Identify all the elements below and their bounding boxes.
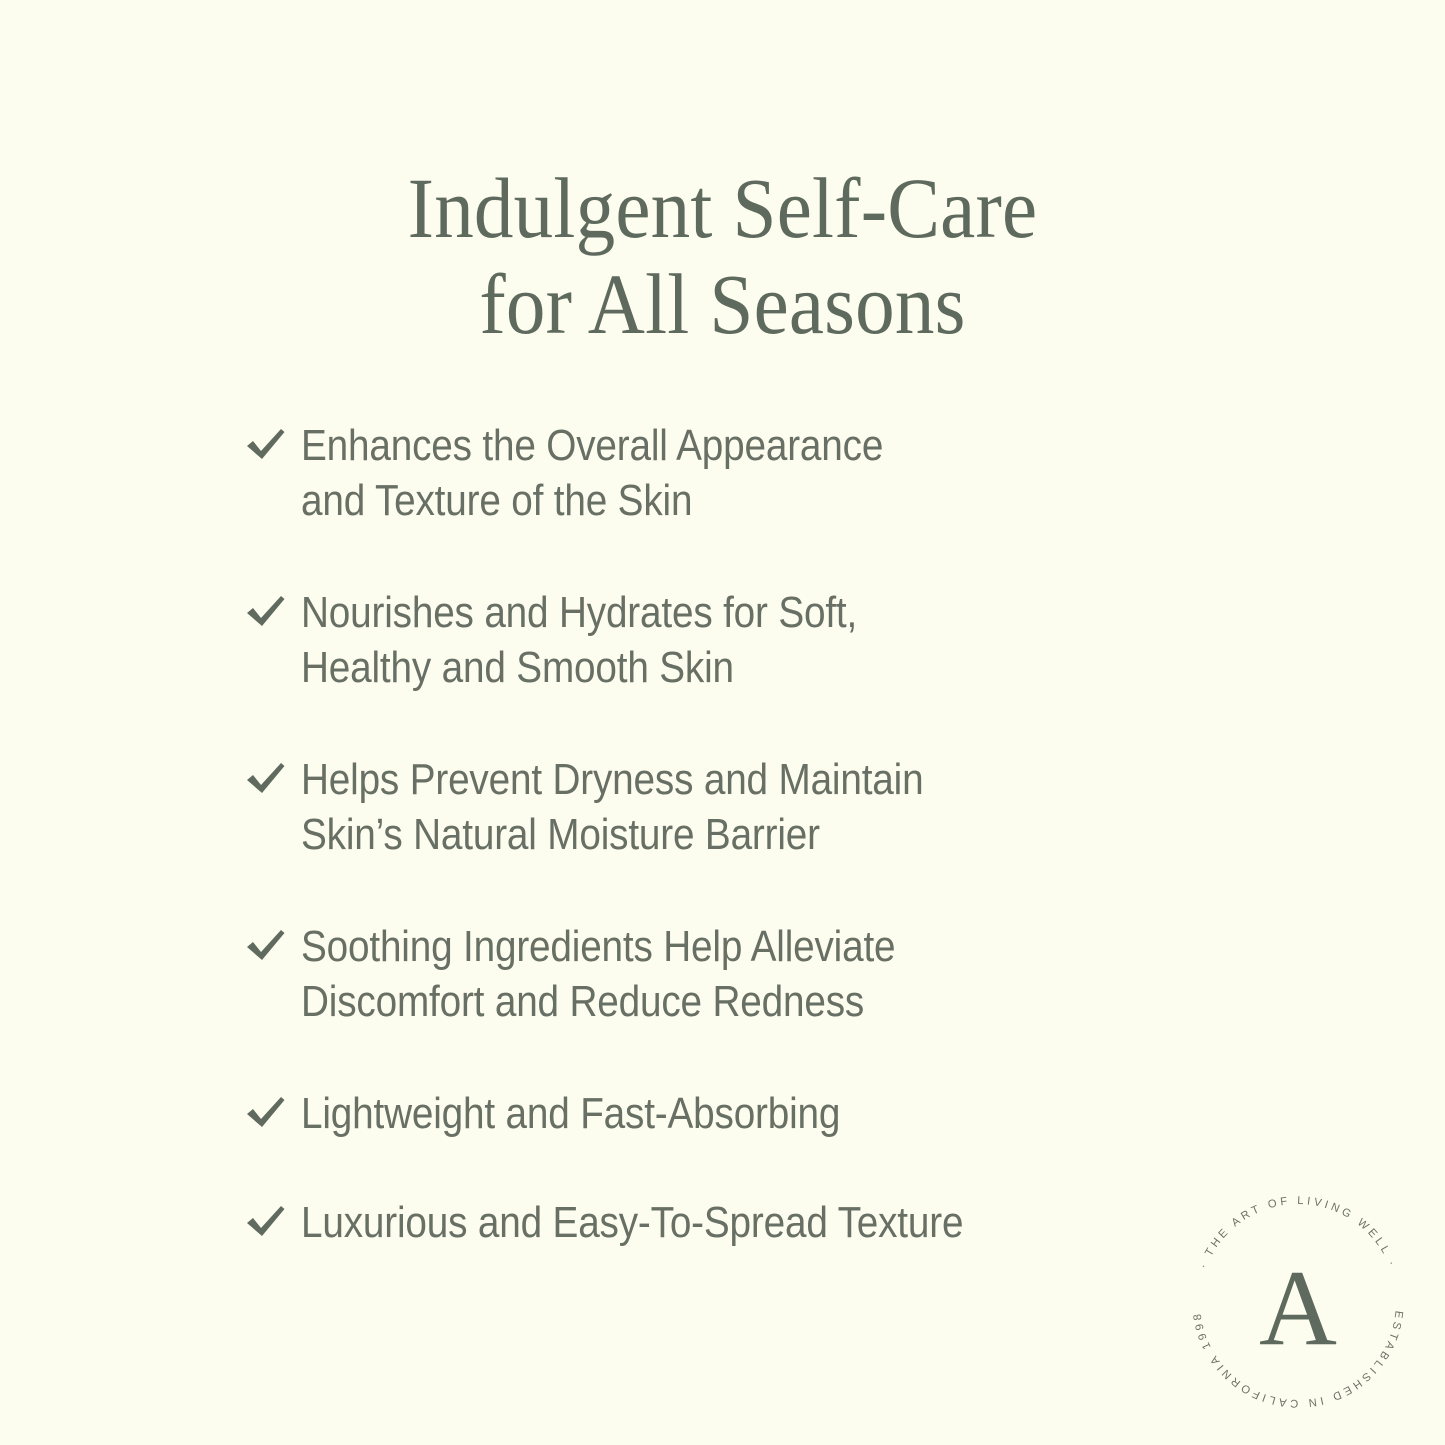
- list-item-text: Lightweight and Fast-Absorbing: [301, 1086, 1095, 1141]
- list-item-line-1: Nourishes and Hydrates for Soft,: [301, 588, 857, 637]
- page-title-line-1: Indulgent Self-Care: [58, 160, 1387, 256]
- check-icon: [243, 923, 301, 983]
- benefits-list: Enhances the Overall Appearance and Text…: [243, 418, 1203, 1304]
- list-item: Lightweight and Fast-Absorbing: [243, 1086, 1203, 1150]
- check-icon: [243, 1199, 301, 1259]
- brand-seal: · THE ART OF LIVING WELL · ESTABLISHED I…: [1182, 1186, 1414, 1418]
- list-item: Soothing Ingredients Help Alleviate Disc…: [243, 919, 1203, 1030]
- list-item-line-1: Soothing Ingredients Help Alleviate: [301, 922, 895, 971]
- check-icon: [243, 589, 301, 649]
- list-item-line-2: Skin’s Natural Moisture Barrier: [301, 807, 1095, 862]
- list-item-line-1: Lightweight and Fast-Absorbing: [301, 1089, 840, 1138]
- list-item-line-1: Luxurious and Easy-To-Spread Texture: [301, 1198, 963, 1247]
- page-title: Indulgent Self-Care for All Seasons: [0, 160, 1445, 353]
- seal-monogram: A: [1259, 1249, 1337, 1368]
- check-icon: [243, 756, 301, 816]
- list-item-text: Luxurious and Easy-To-Spread Texture: [301, 1195, 1095, 1250]
- list-item: Luxurious and Easy-To-Spread Texture: [243, 1195, 1203, 1259]
- list-item-line-2: and Texture of the Skin: [301, 473, 1095, 528]
- list-item: Nourishes and Hydrates for Soft, Healthy…: [243, 585, 1203, 696]
- check-icon: [243, 1090, 301, 1150]
- list-item: Enhances the Overall Appearance and Text…: [243, 418, 1203, 529]
- list-item-text: Nourishes and Hydrates for Soft, Healthy…: [301, 585, 1095, 696]
- check-icon: [243, 422, 301, 482]
- list-item-text: Soothing Ingredients Help Alleviate Disc…: [301, 919, 1095, 1030]
- list-item-line-2: Healthy and Smooth Skin: [301, 640, 1095, 695]
- list-item-line-1: Helps Prevent Dryness and Maintain: [301, 755, 923, 804]
- page-title-line-2: for All Seasons: [58, 256, 1387, 352]
- list-item: Helps Prevent Dryness and Maintain Skin’…: [243, 752, 1203, 863]
- list-item-text: Helps Prevent Dryness and Maintain Skin’…: [301, 752, 1095, 863]
- poster-canvas: Indulgent Self-Care for All Seasons Enha…: [0, 0, 1445, 1445]
- list-item-text: Enhances the Overall Appearance and Text…: [301, 418, 1095, 529]
- list-item-line-2: Discomfort and Reduce Redness: [301, 974, 1095, 1029]
- list-item-line-1: Enhances the Overall Appearance: [301, 421, 883, 470]
